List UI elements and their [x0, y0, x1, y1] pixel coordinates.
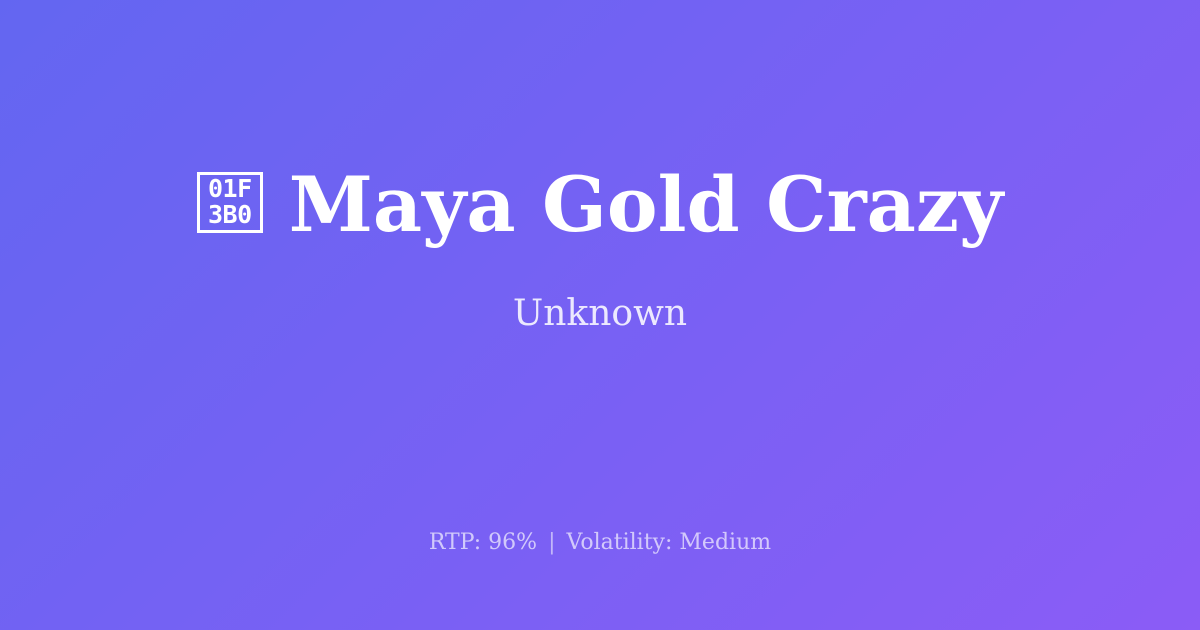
volatility-label: Volatility: [567, 530, 673, 555]
game-provider: Unknown [513, 292, 687, 335]
tofu-codepoint-bottom: 3B0 [208, 202, 252, 228]
og-game-card: 01F 3B0 Maya Gold Crazy Unknown RTP: 96%… [0, 0, 1200, 630]
volatility-value: Medium [679, 530, 771, 555]
game-title: Maya Gold Crazy [289, 165, 1003, 245]
meta-separator: | [544, 530, 559, 555]
hero-block: 01F 3B0 Maya Gold Crazy Unknown [0, 0, 1200, 500]
rtp-value: 96% [488, 530, 537, 555]
rtp-label: RTP: [429, 530, 481, 555]
tofu-codepoint-top: 01F [208, 176, 252, 202]
title-row: 01F 3B0 Maya Gold Crazy [60, 165, 1140, 245]
game-meta-footer: RTP: 96% | Volatility: Medium [0, 528, 1200, 559]
slot-machine-icon: 01F 3B0 [197, 172, 263, 233]
